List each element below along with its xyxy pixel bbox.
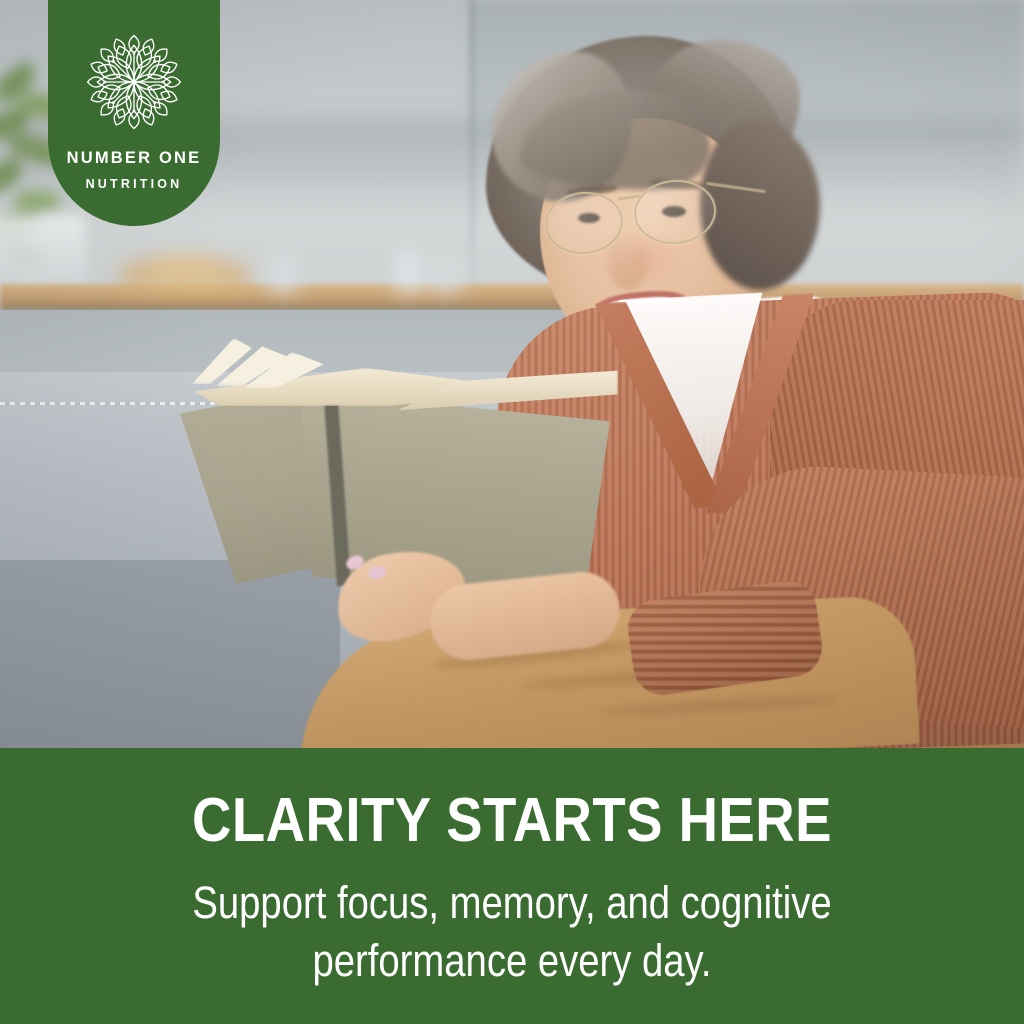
promotional-poster: NUMBER ONE NUTRITION CLARITY STARTS HERE…	[0, 0, 1024, 1024]
headline: CLARITY STARTS HERE	[61, 748, 962, 852]
brand-name: NUMBER ONE	[67, 150, 202, 167]
brand-logo-badge[interactable]: NUMBER ONE NUTRITION	[48, 0, 220, 226]
mandala-flower-logo-icon	[80, 28, 188, 136]
message-banner: CLARITY STARTS HERE Support focus, memor…	[0, 748, 1024, 1024]
counter-item-jar-3	[268, 258, 298, 292]
subheadline-line-2: performance every day.	[77, 932, 947, 990]
sofa-seat	[0, 560, 340, 748]
counter-item-jar-1	[396, 250, 422, 292]
counter-item-jar-2	[430, 252, 462, 292]
brand-tagline: NUTRITION	[86, 178, 183, 191]
nose	[608, 232, 648, 290]
subheadline: Support focus, memory, and cognitive per…	[77, 852, 947, 989]
counter-item-bread-2	[150, 256, 220, 282]
subheadline-line-1: Support focus, memory, and cognitive	[77, 874, 947, 932]
